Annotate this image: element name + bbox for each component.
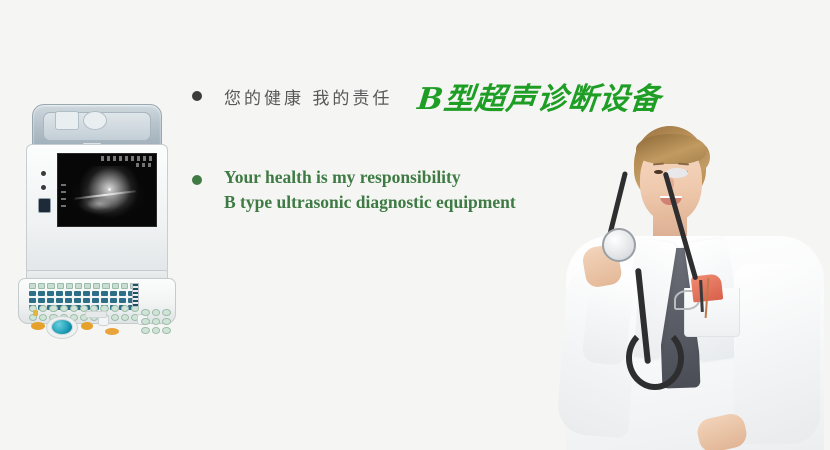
key[interactable]	[102, 283, 109, 289]
oval-key[interactable]	[141, 327, 150, 334]
oval-key[interactable]	[70, 305, 78, 312]
oval-key[interactable]	[121, 314, 129, 321]
oval-key[interactable]	[49, 305, 57, 312]
oval-key[interactable]	[152, 309, 161, 316]
slogan-english: Your health is my responsibility	[224, 165, 516, 190]
key[interactable]	[29, 283, 36, 289]
machine-display-housing	[26, 144, 168, 276]
oval-key[interactable]	[39, 305, 47, 312]
oval-key[interactable]	[162, 309, 171, 316]
key[interactable]	[56, 291, 63, 296]
screen-osd-top-text	[101, 156, 153, 161]
key[interactable]	[65, 298, 72, 303]
stethoscope-chestpiece	[602, 228, 636, 262]
ultrasound-machine-image	[18, 104, 174, 322]
key[interactable]	[65, 291, 72, 296]
indicator-led-icon	[33, 310, 38, 316]
product-banner: 您的健康 我的责任 B型超声诊断设备 Your health is my res…	[0, 0, 830, 450]
key[interactable]	[29, 298, 36, 303]
probe-holder-square-icon	[55, 111, 79, 130]
oval-key[interactable]	[162, 318, 171, 325]
screen-osd-depth-scale	[61, 184, 66, 208]
oval-key-row[interactable]	[29, 305, 139, 312]
key[interactable]	[101, 291, 108, 296]
oval-key-row[interactable]	[141, 318, 171, 325]
probe-holder-round-icon	[83, 111, 107, 130]
measure-button[interactable]	[81, 322, 93, 330]
print-button[interactable]	[105, 328, 119, 335]
oval-key-row[interactable]	[29, 314, 139, 321]
key[interactable]	[110, 291, 117, 296]
subhead-lines: Your health is my responsibility B type …	[224, 165, 516, 215]
key[interactable]	[93, 283, 100, 289]
key[interactable]	[75, 283, 82, 289]
oval-key[interactable]	[39, 314, 47, 321]
key[interactable]	[74, 298, 81, 303]
key[interactable]	[119, 298, 126, 303]
oval-key-rows[interactable]	[29, 305, 139, 323]
key[interactable]	[57, 283, 64, 289]
key[interactable]	[38, 283, 45, 289]
key[interactable]	[92, 291, 99, 296]
machine-keyboard-base	[18, 278, 176, 324]
oval-key[interactable]	[141, 309, 150, 316]
hair-fringe-icon	[636, 134, 706, 164]
base-front-latch	[85, 311, 107, 318]
oval-key-row[interactable]	[141, 309, 171, 316]
oval-key-row[interactable]	[141, 327, 171, 334]
key[interactable]	[121, 283, 128, 289]
key[interactable]	[47, 298, 54, 303]
key[interactable]	[110, 298, 117, 303]
stethoscope-earpiece	[666, 168, 688, 178]
scan-marker-dot	[108, 188, 111, 191]
key[interactable]	[29, 291, 36, 296]
coat-sleeve-right	[734, 264, 820, 444]
product-title-english: B type ultrasonic diagnostic equipment	[224, 190, 516, 215]
key[interactable]	[112, 283, 119, 289]
keyboard-key-rows[interactable]	[29, 283, 137, 305]
oval-key[interactable]	[141, 318, 150, 325]
stethoscope-tube-loop	[626, 326, 684, 390]
oval-key[interactable]	[121, 305, 129, 312]
key[interactable]	[83, 291, 90, 296]
headline-row: 您的健康 我的责任 B型超声诊断设备	[192, 74, 692, 118]
key[interactable]	[66, 283, 73, 289]
key[interactable]	[38, 298, 45, 303]
power-switch-icon[interactable]	[38, 198, 51, 213]
bezel-button-bottom[interactable]	[41, 185, 46, 190]
key[interactable]	[74, 291, 81, 296]
bezel-button-top[interactable]	[41, 171, 46, 176]
right-keypad[interactable]	[141, 309, 171, 336]
key[interactable]	[47, 283, 54, 289]
key[interactable]	[38, 291, 45, 296]
oval-key[interactable]	[162, 327, 171, 334]
key[interactable]	[101, 298, 108, 303]
oval-key[interactable]	[152, 318, 161, 325]
key[interactable]	[47, 291, 54, 296]
trackball[interactable]	[51, 319, 73, 335]
screen-osd-secondary-text	[136, 163, 152, 167]
ultrasound-screen	[57, 153, 157, 227]
key[interactable]	[83, 298, 90, 303]
tgc-slider[interactable]	[132, 283, 139, 307]
bullet-dot-icon	[192, 175, 202, 185]
oval-key[interactable]	[111, 314, 119, 321]
oval-key[interactable]	[152, 327, 161, 334]
key-row[interactable]	[29, 298, 137, 303]
key[interactable]	[119, 291, 126, 296]
key[interactable]	[92, 298, 99, 303]
freeze-button[interactable]	[31, 322, 45, 330]
key[interactable]	[56, 298, 63, 303]
key-row[interactable]	[29, 291, 137, 296]
key-row[interactable]	[29, 283, 137, 289]
eye-left	[654, 170, 663, 174]
doctor-model-image	[556, 118, 830, 450]
oval-key[interactable]	[111, 305, 119, 312]
key[interactable]	[84, 283, 91, 289]
oval-key[interactable]	[60, 305, 68, 312]
bullet-dot-icon	[192, 91, 202, 101]
product-title-chinese: B型超声诊断设备	[416, 74, 664, 118]
slogan-chinese: 您的健康 我的责任	[224, 84, 392, 109]
